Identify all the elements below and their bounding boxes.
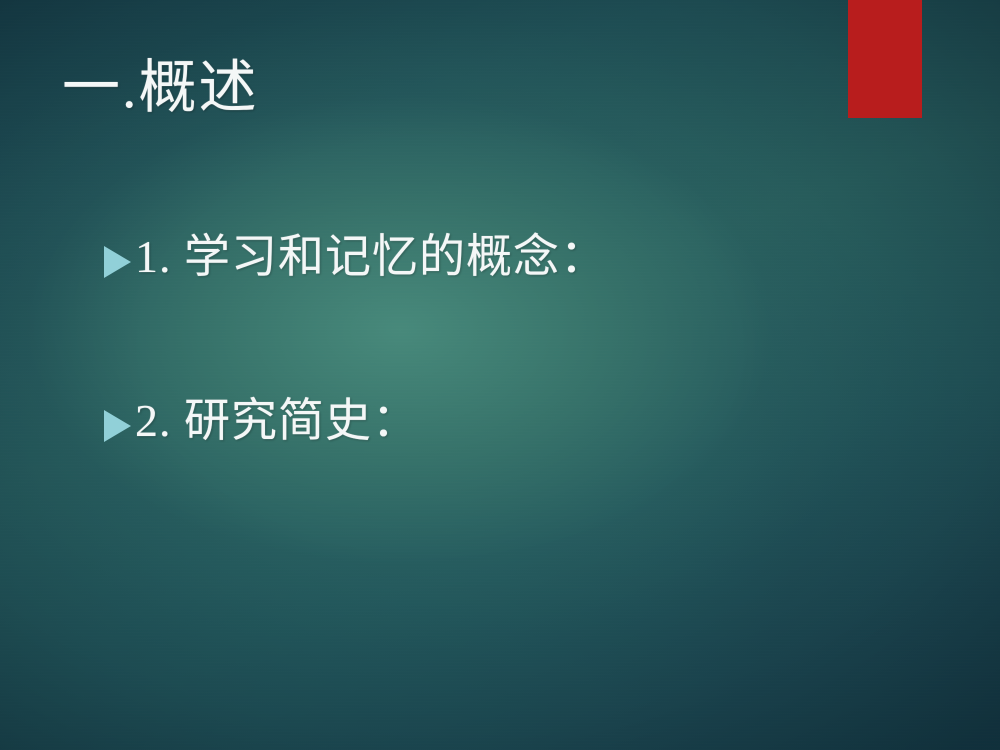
bullet-item-label: 2. 研究简史：: [135, 396, 419, 446]
triangle-right-icon: [104, 246, 131, 278]
bullet-list: 1. 学习和记忆的概念： 2. 研究简史：: [104, 232, 924, 445]
list-item: 2. 研究简史：: [104, 396, 924, 446]
accent-bar-decoration: [848, 0, 922, 118]
presentation-slide: 一.概述 1. 学习和记忆的概念： 2. 研究简史：: [0, 0, 1000, 750]
bullet-item-label: 1. 学习和记忆的概念：: [135, 232, 607, 282]
slide-title: 一.概述: [62, 56, 259, 121]
list-item: 1. 学习和记忆的概念：: [104, 232, 924, 282]
triangle-right-icon: [104, 410, 131, 442]
